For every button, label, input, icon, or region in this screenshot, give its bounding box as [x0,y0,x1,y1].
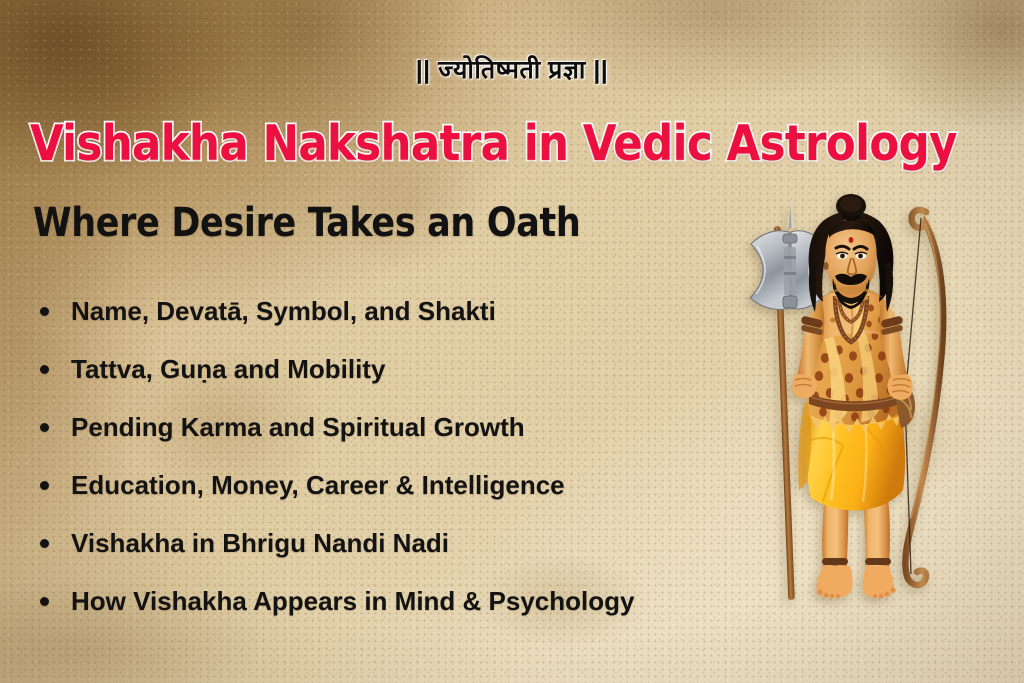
page-subtitle: Where Desire Takes an Oath [33,200,580,246]
page-title: Vishakha Nakshatra in Vedic Astrology [30,114,985,174]
bullet-dot-icon [40,423,49,432]
list-item-label: Name, Devatā, Symbol, and Shakti [71,296,496,327]
list-item: How Vishakha Appears in Mind & Psycholog… [40,572,634,630]
list-item-label: Education, Money, Career & Intelligence [71,470,565,501]
banner-content: || ज्योतिष्मती प्रज्ञा || Vishakha Naksh… [0,0,1024,683]
list-item: Tattva, Guṇa and Mobility [40,340,634,398]
list-item-label: Vishakha in Bhrigu Nandi Nadi [71,528,449,559]
bullet-dot-icon [40,481,49,490]
list-item-label: Tattva, Guṇa and Mobility [71,354,385,385]
list-item-label: Pending Karma and Spiritual Growth [71,412,525,443]
poster-banner: || ज्योतिष्मती प्रज्ञा || Vishakha Naksh… [0,0,1024,683]
bullet-dot-icon [40,307,49,316]
list-item: Pending Karma and Spiritual Growth [40,398,634,456]
list-item: Name, Devatā, Symbol, and Shakti [40,282,634,340]
bullet-dot-icon [40,539,49,548]
list-item-label: How Vishakha Appears in Mind & Psycholog… [71,586,634,617]
sanskrit-header: || ज्योतिष्मती प्रज्ञा || [0,52,1024,86]
list-item: Education, Money, Career & Intelligence [40,456,634,514]
topic-list: Name, Devatā, Symbol, and Shakti Tattva,… [40,282,634,630]
list-item: Vishakha in Bhrigu Nandi Nadi [40,514,634,572]
bullet-dot-icon [40,365,49,374]
bullet-dot-icon [40,597,49,606]
parashurama-illustration [735,190,980,620]
